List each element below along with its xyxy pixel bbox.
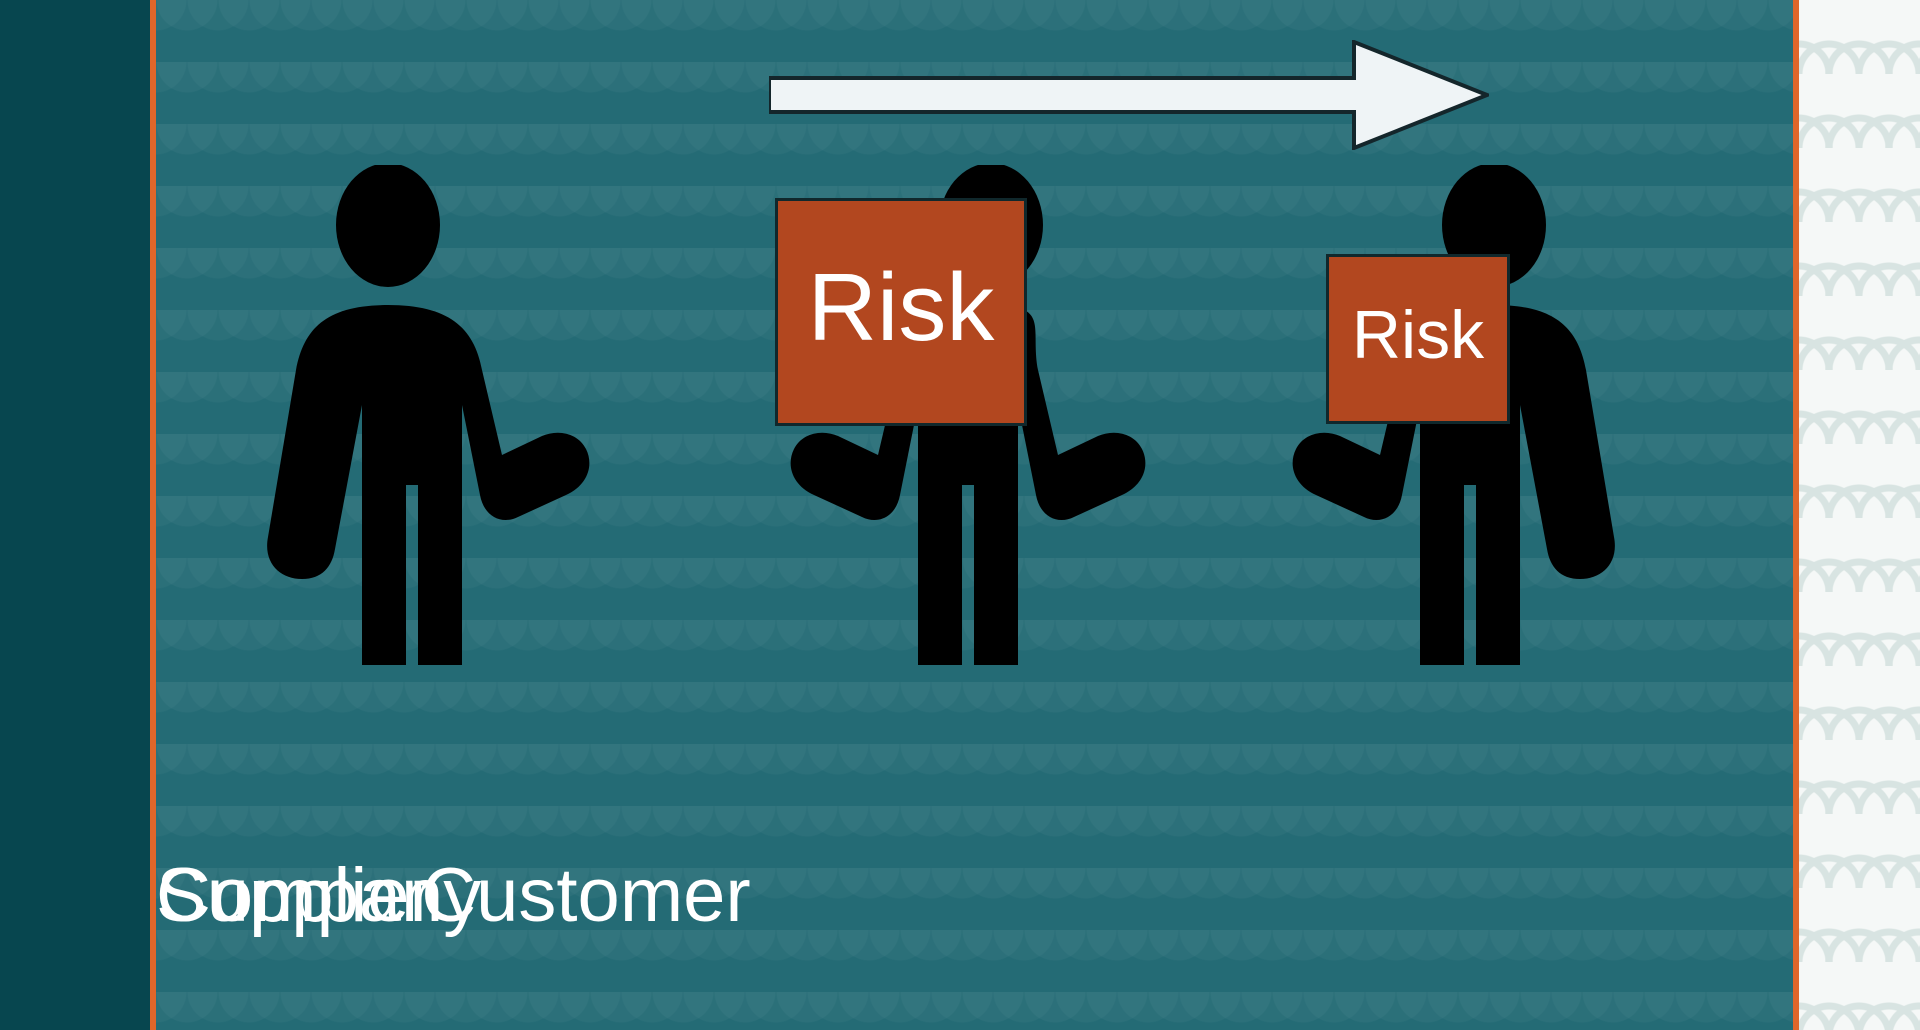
risk-box-small: Risk xyxy=(1326,254,1510,424)
risk-box-small-label: Risk xyxy=(1352,301,1484,369)
left-accent-rule xyxy=(150,0,156,1030)
risk-box-large: Risk xyxy=(775,198,1027,426)
slide-canvas: Risk Risk Customer Company Supplier Pass… xyxy=(0,0,1920,1030)
right-arrow-icon xyxy=(769,40,1489,150)
left-accent-band xyxy=(0,0,150,1030)
person-icon-customer xyxy=(266,165,596,675)
risk-box-large-label: Risk xyxy=(808,260,995,356)
right-pattern-panel xyxy=(1799,0,1920,1030)
actor-label-supplier: Supplier xyxy=(156,852,435,939)
slide-stage: Risk Risk Customer Company Supplier xyxy=(156,0,1793,1030)
right-accent-rule xyxy=(1793,0,1799,1030)
